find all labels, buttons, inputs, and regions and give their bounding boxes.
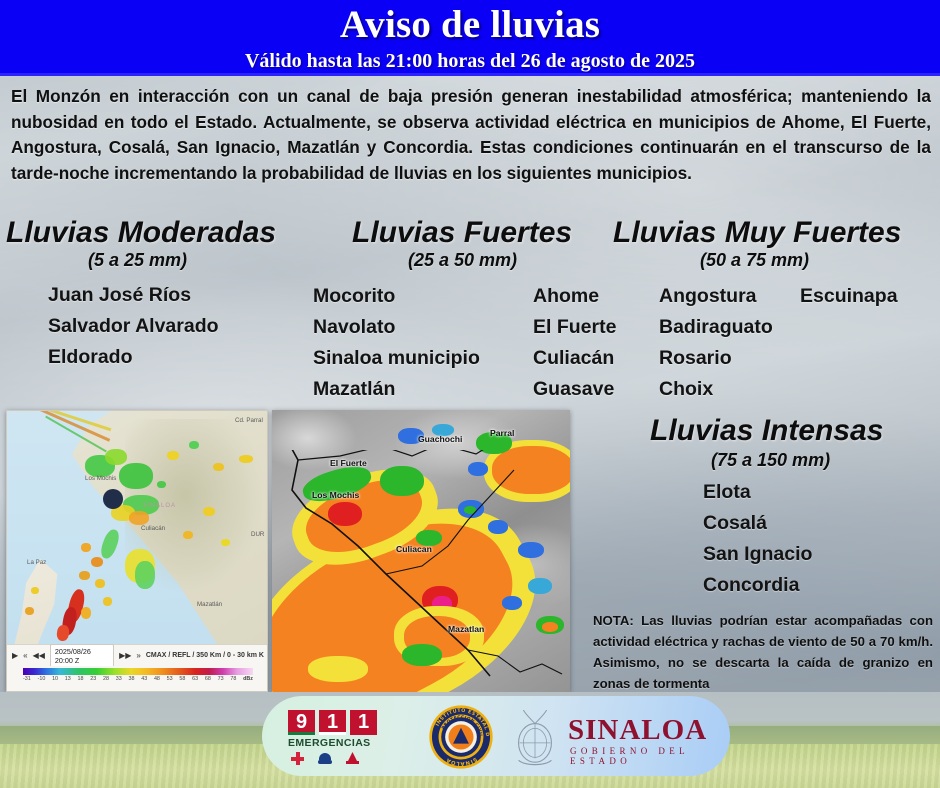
cloud-top-region: [542, 622, 558, 632]
category-title-fuertes: Lluvias Fuertes: [352, 216, 572, 250]
category-range-muy-fuertes: (50 a 75 mm): [700, 250, 809, 271]
radar-echo: [203, 507, 215, 516]
satellite-city-label: Culiacan: [396, 544, 432, 554]
satellite-city-label: Los Mochis: [312, 490, 359, 500]
municipality-list-muy-fuertes-col2: Escuinapa: [800, 281, 898, 312]
satellite-panel: Guachochi Parral El Fuerte Los Mochis Cu…: [272, 410, 570, 692]
radar-echo: [91, 557, 103, 567]
list-item: Juan José Ríos: [48, 280, 219, 311]
map-label: La Paz: [27, 559, 46, 566]
list-item: Escuinapa: [800, 281, 898, 312]
category-range-fuertes: (25 a 50 mm): [408, 250, 517, 271]
last-frame-icon[interactable]: »: [136, 651, 140, 660]
scale-tick: 78: [230, 676, 236, 682]
scale-tick: 18: [78, 676, 84, 682]
cloud-top-region: [402, 644, 442, 666]
map-label: Culiacán: [141, 525, 165, 532]
intro-paragraph: El Monzón en interacción con un canal de…: [11, 84, 931, 186]
radar-color-scale: -31 -10 10 13 18 23 28 33 38 43 48 53 58…: [7, 666, 268, 691]
list-item: Badiraguato: [659, 312, 773, 343]
list-item: San Ignacio: [703, 539, 812, 570]
radar-echo: [105, 449, 127, 465]
satellite-city-label: El Fuerte: [330, 458, 367, 468]
radar-playback-controls[interactable]: ▶ « ◀◀ 2025/08/26 20:00 Z ▶▶ » CMAX / RE…: [7, 644, 268, 666]
list-item: Mazatlán: [313, 374, 480, 405]
cloud-top-region: [492, 446, 570, 494]
list-item: Elota: [703, 477, 812, 508]
radar-echo: [31, 587, 39, 594]
radar-echo: [95, 579, 105, 588]
sinaloa-subtitle: GOBIERNO DEL ESTADO: [570, 746, 716, 766]
map-label: DUR: [251, 531, 264, 538]
scale-tick: 68: [205, 676, 211, 682]
radar-echo: [239, 455, 253, 463]
radar-site-marker: [103, 489, 123, 509]
firefighter-icon: [346, 752, 359, 765]
municipality-list-intensas: Elota Cosalá San Ignacio Concordia: [703, 477, 812, 601]
scale-tick: 73: [218, 676, 224, 682]
category-title-muy-fuertes: Lluvias Muy Fuertes: [613, 216, 901, 250]
radar-map-image: Los Mochis Culiacán La Paz Mazatlán Cd. …: [7, 411, 268, 646]
list-item: Rosario: [659, 343, 773, 374]
scale-tick: 23: [90, 676, 96, 682]
list-item: Eldorado: [48, 342, 219, 373]
sinaloa-wordmark: SINALOA: [568, 716, 707, 745]
satellite-city-label: Parral: [490, 428, 514, 438]
list-item: Guasave: [533, 374, 616, 405]
scale-unit: dBz: [243, 676, 253, 682]
list-item: Concordia: [703, 570, 812, 601]
911-digits: 9 1 1: [288, 710, 384, 735]
cloud-top-region: [468, 462, 488, 476]
cloud-top-region: [380, 466, 424, 496]
emergency-911-logo: 9 1 1 EMERGENCIAS: [288, 710, 384, 765]
cloud-top-region: [502, 596, 522, 610]
radar-echo: [25, 607, 34, 615]
scale-tick: 38: [128, 676, 134, 682]
list-item: Culiacán: [533, 343, 616, 374]
cloud-top-region: [528, 578, 552, 594]
scale-tick: 33: [116, 676, 122, 682]
list-item: Salvador Alvarado: [48, 311, 219, 342]
map-label: Los Mochis: [85, 475, 116, 482]
validity-subtitle: Válido hasta las 21:00 horas del 26 de a…: [0, 44, 940, 71]
scale-tick: 28: [103, 676, 109, 682]
category-title-moderadas: Lluvias Moderadas: [6, 216, 276, 250]
list-item: Mocorito: [313, 281, 480, 312]
scale-tick: 43: [141, 676, 147, 682]
emergencias-label: EMERGENCIAS: [288, 737, 384, 749]
page-title: Aviso de lluvias: [0, 0, 940, 44]
previous-frame-icon[interactable]: ◀◀: [33, 651, 45, 660]
cloud-top-region: [518, 542, 544, 558]
play-icon[interactable]: ▶: [12, 651, 18, 660]
satellite-city-label: Guachochi: [418, 434, 462, 444]
radar-timestamp: 2025/08/26 20:00 Z: [50, 644, 114, 668]
nota-text: NOTA: Las lluvias podrían estar acompaña…: [593, 610, 933, 694]
scale-tick: 48: [154, 676, 160, 682]
radar-echo: [129, 511, 149, 525]
radar-echo: [189, 441, 199, 449]
police-icon: [318, 752, 332, 765]
state-coat-of-arms-icon: [506, 710, 564, 768]
radar-echo: [56, 624, 70, 642]
radar-echo: [213, 463, 224, 471]
list-item: Sinaloa municipio: [313, 343, 480, 374]
list-item: Ahome: [533, 281, 616, 312]
radar-mode-label: CMAX / REFL / 350 Km / 0 - 30 km K: [146, 652, 264, 659]
footer-band: 9 1 1 EMERGENCIAS: [0, 692, 940, 788]
scale-tick: 10: [52, 676, 58, 682]
radar-echo: [81, 543, 91, 552]
municipality-list-fuertes-col2: Ahome El Fuerte Culiacán Guasave: [533, 281, 616, 405]
radar-echo: [119, 463, 153, 489]
radar-echo: [221, 539, 230, 546]
map-region-label: SINALOA: [143, 503, 176, 509]
cloud-top-region: [488, 520, 508, 534]
cloud-top-region: [328, 502, 362, 526]
category-title-intensas: Lluvias Intensas: [650, 414, 883, 448]
header-banner: Aviso de lluvias Válido hasta las 21:00 …: [0, 0, 940, 76]
municipality-list-moderadas: Juan José Ríos Salvador Alvarado Eldorad…: [48, 280, 219, 373]
red-cross-icon: [291, 752, 304, 765]
color-scale-gradient: [23, 668, 253, 675]
municipality-list-fuertes-col1: Mocorito Navolato Sinaloa municipio Maza…: [313, 281, 480, 405]
radar-echo: [98, 528, 121, 561]
scale-tick: 13: [65, 676, 71, 682]
map-label: Cd. Parral: [235, 417, 263, 424]
list-item: El Fuerte: [533, 312, 616, 343]
list-item: Cosalá: [703, 508, 812, 539]
radar-echo: [79, 571, 90, 580]
cloud-top-region: [464, 506, 476, 514]
scale-tick: -31: [23, 676, 31, 682]
radar-echo: [103, 597, 112, 606]
scale-tick: 53: [167, 676, 173, 682]
scale-tick: 63: [192, 676, 198, 682]
list-item: Choix: [659, 374, 773, 405]
radar-echo: [183, 531, 193, 539]
scale-tick: 58: [179, 676, 185, 682]
list-item: Angostura: [659, 281, 773, 312]
map-label: Mazatlán: [197, 601, 222, 608]
digit-1-a: 1: [319, 710, 346, 735]
cloud-top-region: [308, 656, 368, 682]
radar-echo: [135, 561, 155, 589]
scale-tick: -10: [38, 676, 46, 682]
proteccion-civil-seal: INSTITUTO ESTATAL DE PROTECCION CIVIL SI…: [428, 704, 494, 770]
list-item: Navolato: [313, 312, 480, 343]
municipality-list-muy-fuertes-col1: Angostura Badiraguato Rosario Choix: [659, 281, 773, 405]
radar-echo: [167, 451, 179, 460]
category-range-moderadas: (5 a 25 mm): [88, 250, 187, 271]
emergency-service-icons: [288, 752, 384, 765]
next-frame-icon[interactable]: ▶▶: [119, 651, 131, 660]
sinaloa-government-logo: SINALOA GOBIERNO DEL ESTADO: [506, 708, 716, 768]
color-scale-labels: -31 -10 10 13 18 23 28 33 38 43 48 53 58…: [23, 675, 253, 682]
category-range-intensas: (75 a 150 mm): [711, 450, 830, 471]
radar-panel: Los Mochis Culiacán La Paz Mazatlán Cd. …: [6, 410, 268, 692]
digit-9: 9: [288, 710, 315, 735]
first-frame-icon[interactable]: «: [23, 651, 27, 660]
satellite-city-label: Mazatlan: [448, 624, 484, 634]
digit-1-b: 1: [350, 710, 377, 735]
weather-alert-poster: Aviso de lluvias Válido hasta las 21:00 …: [0, 0, 940, 788]
radar-echo: [81, 607, 91, 619]
radar-echo: [157, 481, 166, 488]
